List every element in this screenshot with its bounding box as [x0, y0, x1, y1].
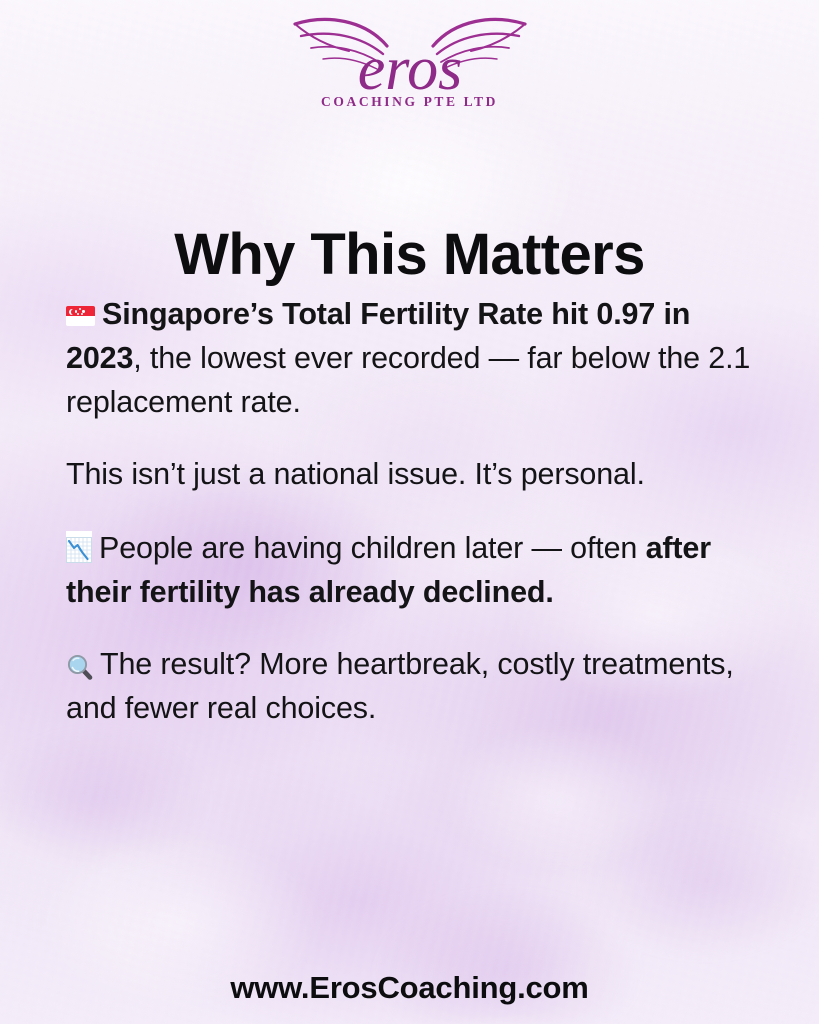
paragraph-result: The result? More heartbreak, costly trea… [66, 642, 766, 730]
body-content: Singapore’s Total Fertility Rate hit 0.9… [66, 292, 766, 730]
logo-wordmark: eros [357, 35, 461, 103]
poster-canvas: eros COACHING PTE LTD Why This Matters S… [0, 0, 819, 1024]
footer-website[interactable]: www.ErosCoaching.com [0, 970, 819, 1006]
chart-decreasing-emoji [66, 531, 92, 557]
paragraph-personal: This isn’t just a national issue. It’s p… [66, 452, 766, 496]
flag-singapore-emoji [66, 306, 95, 326]
magnifying-glass-emoji [66, 648, 93, 675]
brand-logo: eros COACHING PTE LTD [0, 6, 819, 122]
paragraph-fertility-rate: Singapore’s Total Fertility Rate hit 0.9… [66, 292, 766, 424]
page-title: Why This Matters [0, 225, 819, 286]
paragraph-4-text: The result? More heartbreak, costly trea… [66, 647, 734, 725]
paragraph-children-later: People are having children later — often… [66, 526, 766, 614]
paragraph-3-lead: People are having children later — often [99, 531, 646, 565]
logo-tagline: COACHING PTE LTD [287, 94, 533, 110]
paragraph-1-rest: , the lowest ever recorded — far below t… [66, 341, 750, 419]
